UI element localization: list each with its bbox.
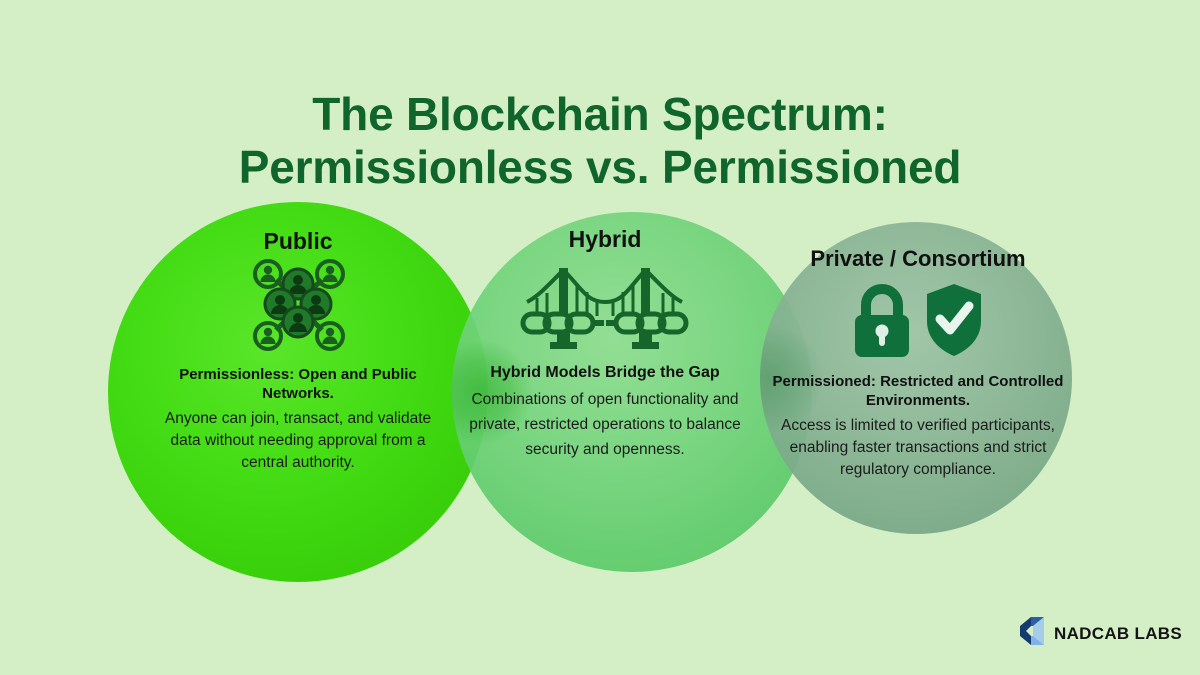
panel-hybrid-lead: Hybrid Models Bridge the Gap: [462, 363, 748, 383]
panel-private-body: Access is limited to verified participan…: [768, 415, 1068, 481]
chain-bridge-icon: [517, 256, 693, 355]
page-title-line-1: The Blockchain Spectrum:: [0, 88, 1200, 141]
panel-public-lead: Permissionless: Open and Public Networks…: [150, 365, 446, 403]
shield-check-icon: [923, 281, 985, 364]
panel-public: Public: [150, 228, 446, 474]
lock-icon: [851, 281, 913, 364]
panel-public-heading: Public: [150, 228, 446, 255]
people-network-icon: [246, 256, 350, 357]
panel-hybrid-icon-area: [462, 259, 748, 355]
panel-hybrid-body: Combinations of open functionality and p…: [462, 388, 748, 462]
panel-private-icon-area: [768, 278, 1068, 364]
panel-private-heading: Private / Consortium: [768, 246, 1068, 272]
page-title-line-2: Permissionless vs. Permissioned: [0, 141, 1200, 194]
panel-hybrid: Hybrid: [462, 226, 748, 463]
nadcab-chevron-logo-icon: [1013, 614, 1047, 653]
panel-public-icon-area: [150, 261, 446, 357]
infographic-canvas: The Blockchain Spectrum: Permissionless …: [0, 0, 1200, 675]
brand-logo[interactable]: NADCAB LABS: [1013, 614, 1182, 653]
panel-private-lead: Permissioned: Restricted and Controlled …: [768, 372, 1068, 410]
panel-private: Private / Consortium Permissioned: Restr…: [768, 246, 1068, 481]
brand-logo-text: NADCAB LABS: [1054, 624, 1182, 644]
panel-public-body: Anyone can join, transact, and validate …: [150, 408, 446, 474]
page-title: The Blockchain Spectrum: Permissionless …: [0, 88, 1200, 195]
panel-hybrid-heading: Hybrid: [462, 226, 748, 253]
